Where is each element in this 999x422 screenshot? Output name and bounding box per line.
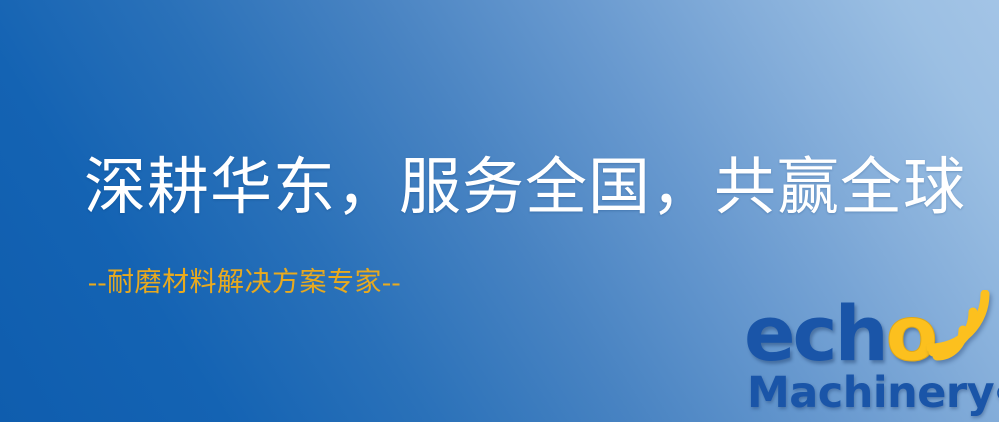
company-logo: echo Machinery® bbox=[744, 296, 999, 422]
logo-wordmark: echo bbox=[744, 296, 935, 372]
banner-subtitle: --耐磨材料解决方案专家-- bbox=[88, 264, 401, 300]
logo-subword-text: Machinery bbox=[747, 368, 994, 418]
banner-headline: 深耕华东，服务全国，共赢全球 bbox=[84, 152, 966, 224]
signal-waves-icon bbox=[927, 290, 999, 364]
logo-text-ech: ech bbox=[744, 289, 886, 378]
logo-subword: Machinery® bbox=[747, 368, 999, 420]
registered-trademark-icon: ® bbox=[994, 382, 999, 407]
promotional-banner: 深耕华东，服务全国，共赢全球 --耐磨材料解决方案专家-- echo Machi… bbox=[0, 0, 999, 422]
